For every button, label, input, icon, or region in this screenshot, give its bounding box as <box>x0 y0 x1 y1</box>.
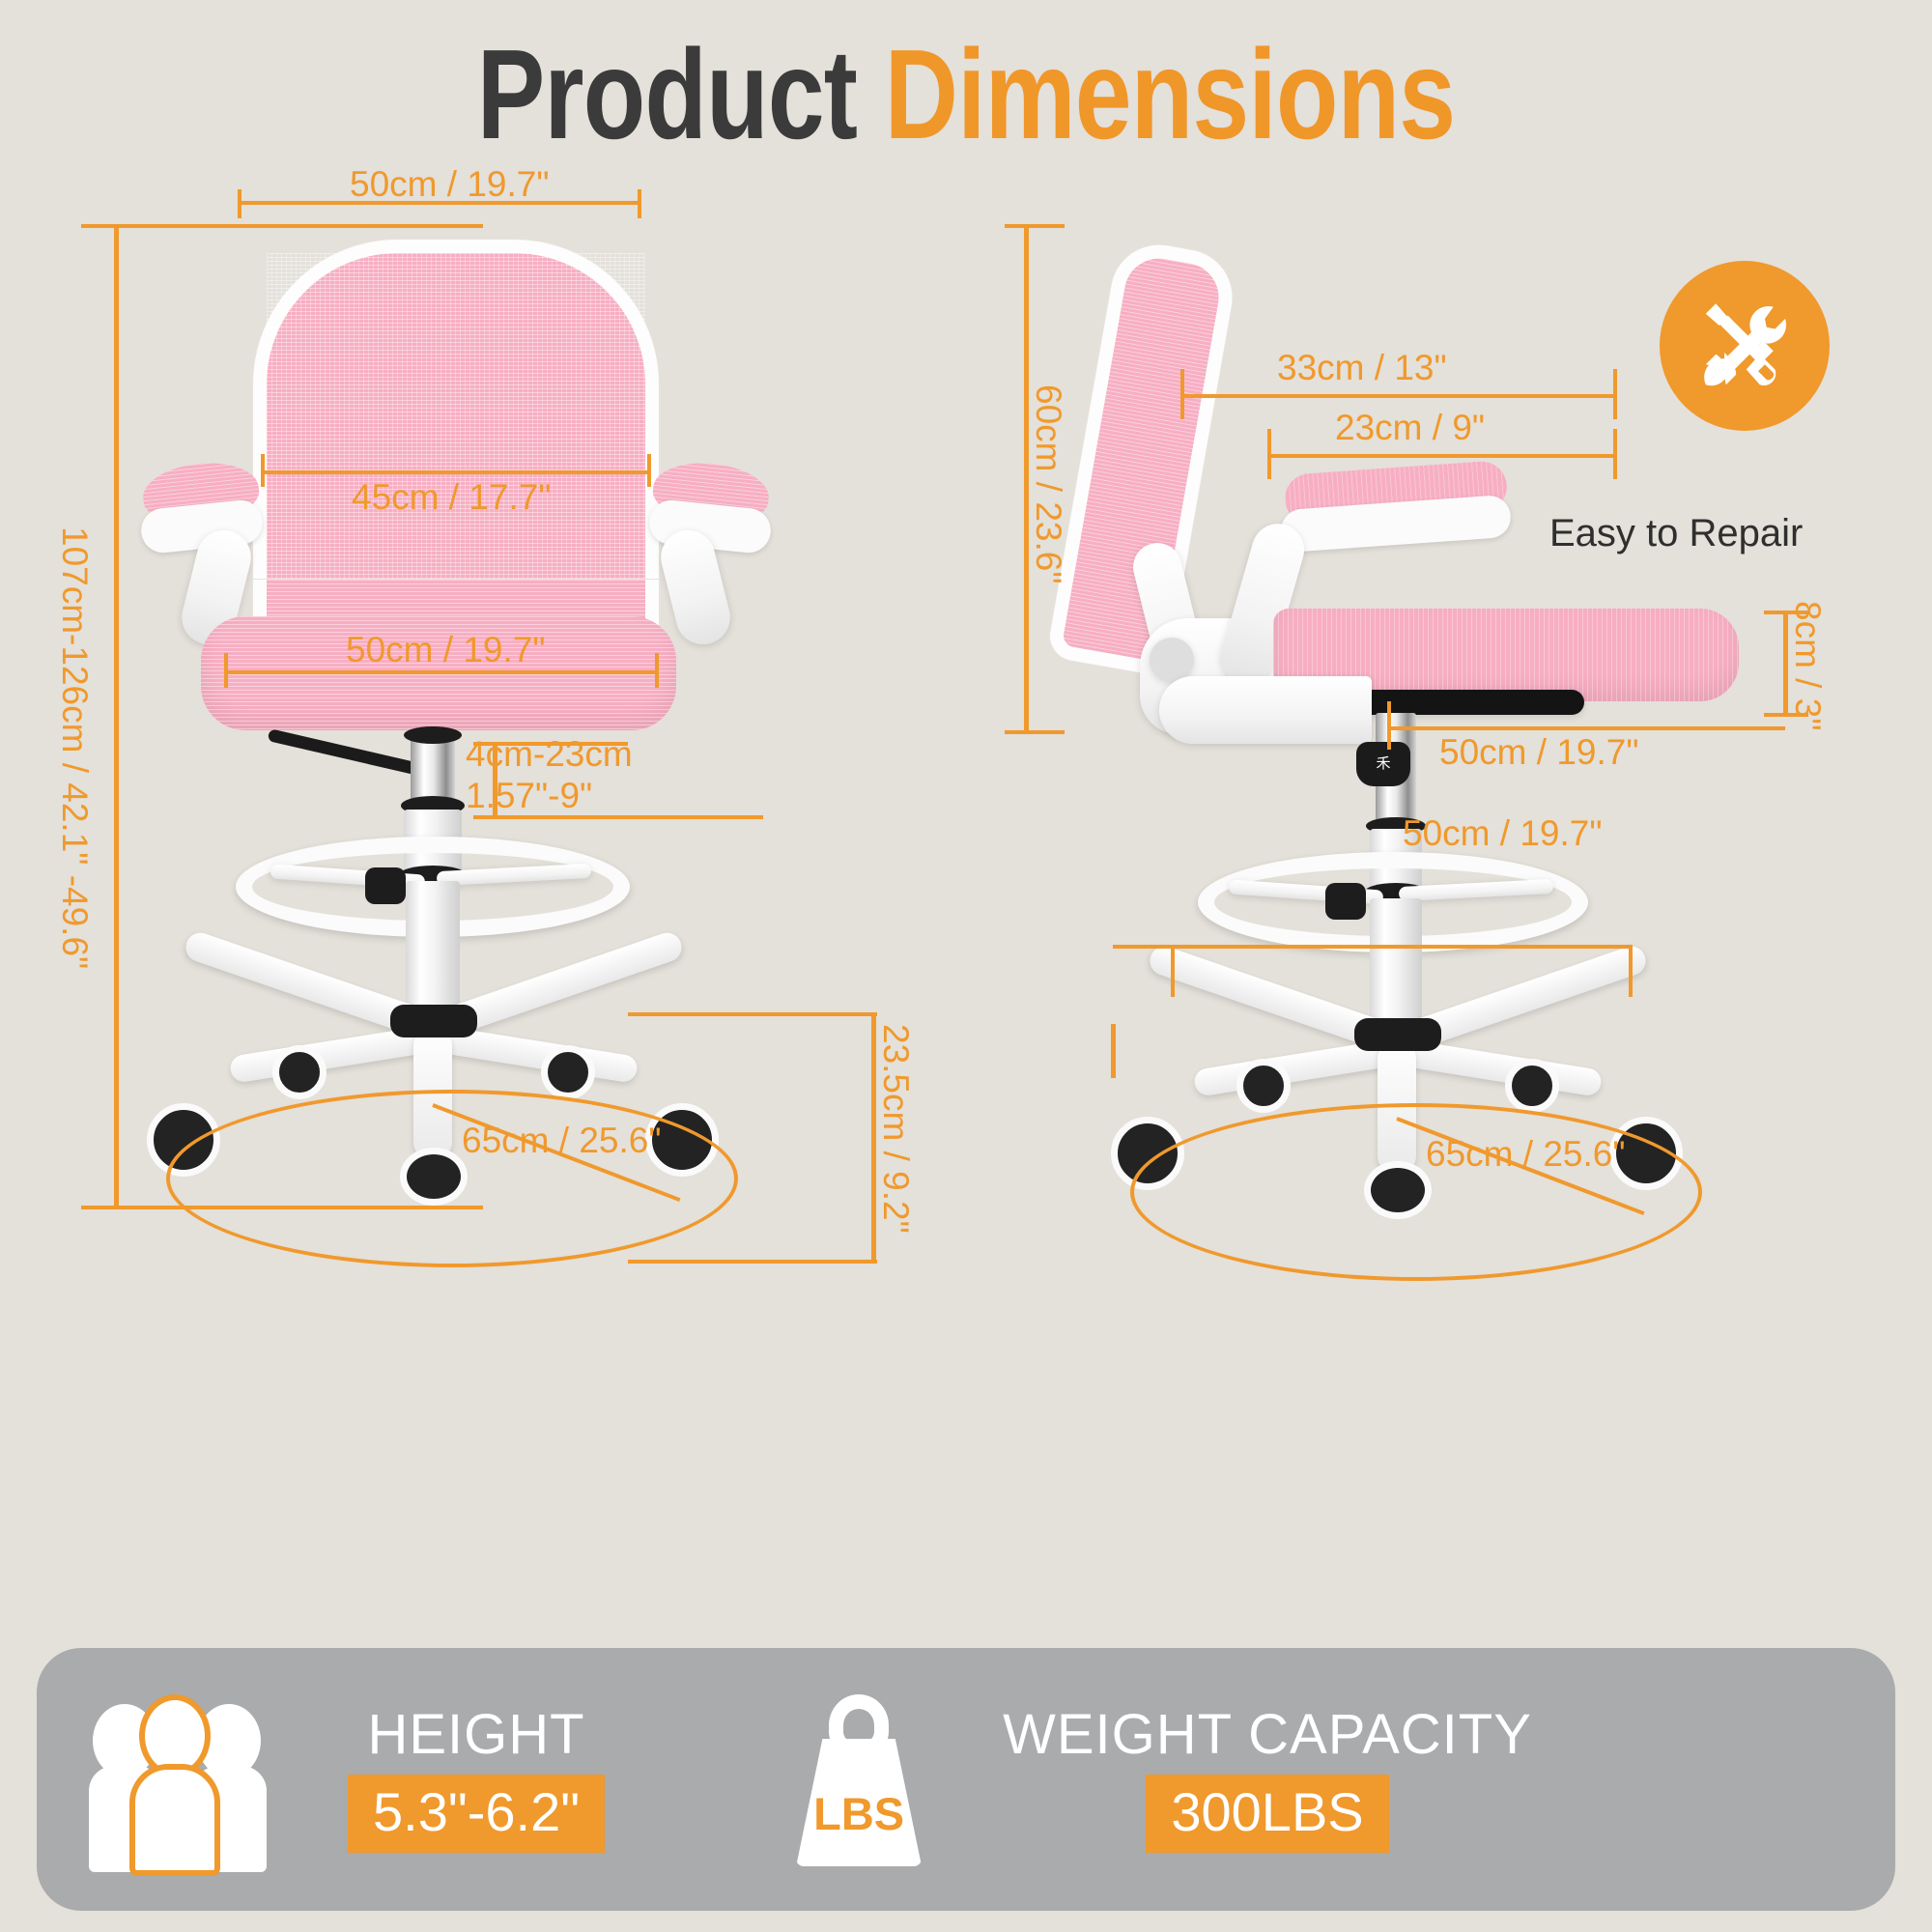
base-hub-side <box>1354 1018 1441 1051</box>
dimtick-footring-left <box>1111 1024 1116 1078</box>
label-back-depth-lower: 23cm / 9" <box>1335 410 1485 447</box>
dimcap-footring-dia-right <box>1629 945 1633 997</box>
height-label: HEIGHT <box>367 1706 584 1765</box>
chair-side-view: 禾 <box>0 0 1932 1584</box>
easy-to-repair-badge <box>1660 261 1830 431</box>
person-body-front <box>129 1764 220 1876</box>
brand-tag: 禾 <box>1356 742 1410 786</box>
height-value: 5.3"-6.2" <box>348 1775 605 1853</box>
label-footring-diameter: 50cm / 19.7" <box>1403 815 1602 853</box>
dimline-back-depth-upper <box>1180 394 1617 398</box>
easy-to-repair-label: Easy to Repair <box>1549 512 1803 555</box>
weight-icon-text: LBS <box>786 1787 931 1840</box>
weight-label: WEIGHT CAPACITY <box>1003 1706 1532 1765</box>
dimcap-side-back-bottom <box>1005 730 1065 734</box>
people-icon <box>77 1683 280 1876</box>
dimcap-23-left <box>1267 429 1271 479</box>
label-seat-thickness: 8cm / 3" <box>1788 601 1826 730</box>
dimcap-23-right <box>1613 429 1617 479</box>
dimcap-33-right <box>1613 369 1617 419</box>
label-side-back-height: 60cm / 23.6" <box>1029 384 1066 583</box>
spec-banner: HEIGHT 5.3"-6.2" LBS WEIGHT CAPACITY 300… <box>37 1648 1895 1911</box>
dimline-seat-depth <box>1387 726 1785 730</box>
tools-icon <box>1690 292 1799 400</box>
dimline-back-depth-lower <box>1267 454 1617 458</box>
dimcap-seatdepth-left <box>1387 701 1391 750</box>
weight-icon: LBS <box>786 1692 931 1866</box>
seat-base-curve <box>1159 676 1372 744</box>
weight-spec-group: LBS WEIGHT CAPACITY 300LBS <box>786 1648 1532 1911</box>
cylinder-sleeve-lower-side <box>1370 898 1422 1022</box>
caster-wheel-side-3 <box>1236 1059 1291 1113</box>
label-seat-depth: 50cm / 19.7" <box>1439 734 1638 772</box>
dimline-footring-diameter <box>1113 945 1633 949</box>
base-diameter-ellipse-side <box>1130 1103 1702 1281</box>
height-texts: HEIGHT 5.3"-6.2" <box>348 1706 605 1853</box>
dimcap-33-left <box>1180 369 1184 419</box>
footring-adjuster-side <box>1325 883 1366 920</box>
weight-texts: WEIGHT CAPACITY 300LBS <box>1003 1706 1532 1853</box>
weight-value: 300LBS <box>1146 1775 1388 1853</box>
mechanism-pivot <box>1150 638 1194 682</box>
label-base-diameter-side: 65cm / 25.6" <box>1426 1136 1625 1174</box>
infographic-canvas: Product Dimensions <box>0 0 1932 1932</box>
dimcap-side-back-top <box>1005 224 1065 228</box>
caster-wheel-side-4 <box>1505 1059 1559 1113</box>
height-spec-group: HEIGHT 5.3"-6.2" <box>77 1648 605 1911</box>
label-back-depth-upper: 33cm / 13" <box>1277 350 1447 387</box>
dimcap-footring-dia-left <box>1171 945 1175 997</box>
